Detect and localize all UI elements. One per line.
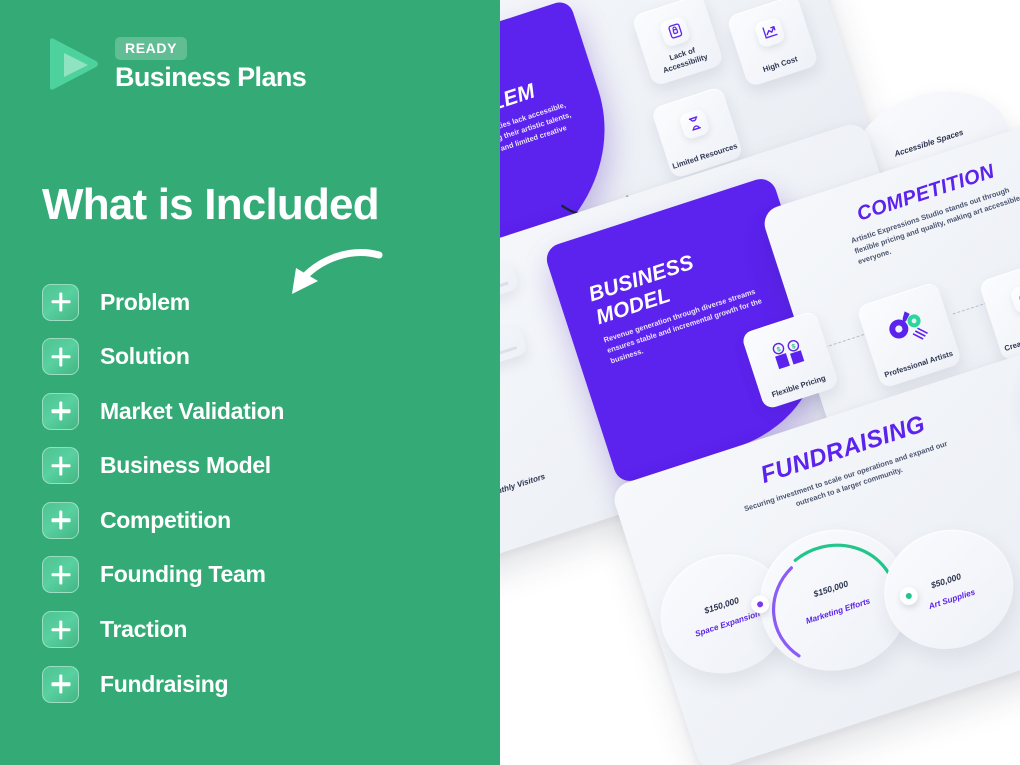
list-item[interactable]: Competition <box>42 500 462 540</box>
plus-icon <box>42 666 79 703</box>
list-item-label: Competition <box>100 507 231 534</box>
bar-row-drop-in-fees[interactable]: Drop-in Fees <box>500 260 520 329</box>
left-green-panel: READY Business Plans What is Included Pr… <box>0 0 500 765</box>
hourglass-icon <box>678 108 711 141</box>
brand-lockup: READY Business Plans <box>44 36 306 92</box>
gears-brush-icon <box>881 304 932 351</box>
tile-label: Professional Artists <box>877 346 960 381</box>
slide-preview-page: READY Business Plans What is Included Pr… <box>0 0 1020 765</box>
deck-stage: THE PROBLEM Many individuals and communi… <box>500 0 1020 765</box>
brand-text: READY Business Plans <box>115 37 306 91</box>
list-item-label: Fundraising <box>100 671 228 698</box>
plus-icon <box>42 611 79 648</box>
tile-high-cost[interactable]: High Cost <box>726 0 819 88</box>
list-item[interactable]: Market Validation <box>42 391 462 431</box>
plus-icon <box>42 447 79 484</box>
list-item[interactable]: Problem <box>42 282 462 322</box>
tile-label: Flexible Pricing <box>760 369 837 402</box>
plus-icon <box>42 338 79 375</box>
play-triangle-icon <box>44 36 102 92</box>
tile-lack-of-accessibility[interactable]: Lack of Accessibility <box>631 0 724 87</box>
list-item[interactable]: Solution <box>42 337 462 377</box>
list-item-label: Market Validation <box>100 398 284 425</box>
list-item-label: Traction <box>100 616 187 643</box>
traction-metric-label: Monthly Visitors <box>500 472 546 500</box>
tile-label: Lack of Accessibility <box>646 38 722 79</box>
page-title: What is Included <box>42 182 379 228</box>
svg-text:$: $ <box>776 346 782 354</box>
svg-text:$: $ <box>791 343 797 351</box>
tile-creative-interaction[interactable]: Creative Interaction <box>978 257 1020 362</box>
bar-track <box>500 346 517 390</box>
tile-label: High Cost <box>743 48 816 80</box>
tile-label: Creative Interaction <box>999 321 1020 355</box>
list-item[interactable]: Founding Team <box>42 555 462 595</box>
brand-title: Business Plans <box>115 63 306 91</box>
bar-row-art-session-workshops[interactable]: Art Session Workshops <box>500 324 528 400</box>
ready-badge: READY <box>115 37 187 60</box>
chart-arrow-up-icon <box>753 16 786 49</box>
list-item[interactable]: Traction <box>42 610 462 650</box>
plus-icon <box>42 284 79 321</box>
lock-document-icon <box>659 15 692 48</box>
list-item-label: Solution <box>100 343 190 370</box>
list-item-label: Founding Team <box>100 561 266 588</box>
list-item-label: Problem <box>100 289 190 316</box>
list-item[interactable]: Fundraising <box>42 664 462 704</box>
list-item-label: Business Model <box>100 452 271 479</box>
slide-deck-preview-panel: THE PROBLEM Many individuals and communi… <box>500 0 1020 765</box>
creative-icon <box>1009 282 1020 315</box>
tile-professional-artists[interactable]: Professional Artists <box>856 281 962 389</box>
plus-icon <box>42 393 79 430</box>
money-bars-icon: $ $ <box>767 332 810 375</box>
plus-icon <box>42 556 79 593</box>
list-item[interactable]: Business Model <box>42 446 462 486</box>
plus-icon <box>42 502 79 539</box>
bar-track <box>500 282 509 320</box>
included-checklist: Problem Solution Market Validation Busin… <box>42 282 462 719</box>
